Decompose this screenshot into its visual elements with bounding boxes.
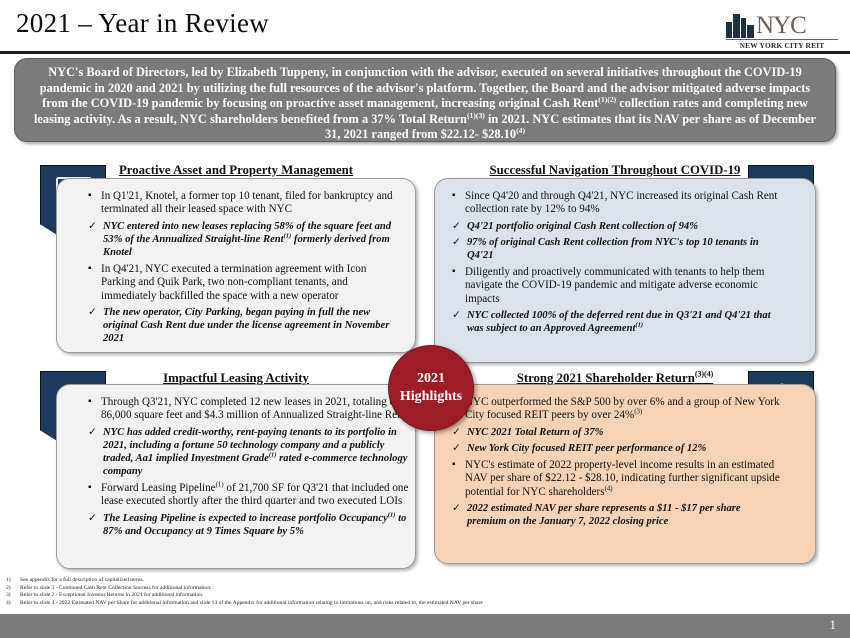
bullets-impactful-leasing-activity: Through Q3'21, NYC completed 12 new leas… [88,396,410,542]
logo-wordmark: NYC [756,14,806,38]
sub-bullet-item: Q4'21 portfolio original Cash Rent colle… [452,220,782,233]
sub-bullet-item: NYC collected 100% of the deferred rent … [452,309,782,335]
bullet-item: NYC's estimate of 2022 property-level in… [452,459,782,499]
page-number: 1 [830,617,837,633]
center-highlights-badge: 2021 Highlights [388,345,474,431]
sub-bullet-item: The new operator, City Parking, began pa… [88,306,400,345]
badge-year: 2021 [417,370,445,388]
bullets-successful-navigation-throughout-covid-19: Since Q4'20 and through Q4'21, NYC incre… [452,190,782,339]
heading-strong-2021-shareholder-return: Strong 2021 Shareholder Return(3)(4) [434,371,796,386]
heading-successful-navigation-throughout-covid-19: Successful Navigation Throughout COVID-1… [434,163,796,178]
logo-subtitle: NEW YORK CITY REIT [726,39,838,50]
footer-bar [0,614,850,638]
nyc-skyline-icon [726,10,754,38]
footnote-row: 4)Refer to slide 4 - 2022 Estimated NAV … [6,600,706,608]
footnote-number: 3) [6,592,15,600]
nyc-reit-logo: NYC NEW YORK CITY REIT [726,10,838,52]
sub-bullet-item: 97% of original Cash Rent collection fro… [452,236,782,262]
bullet-item: Diligently and proactively communicated … [452,266,782,306]
sub-bullet-item: NYC entered into new leases replacing 58… [88,220,400,259]
sub-bullet-item: 2022 estimated NAV per share represents … [452,502,782,528]
bullets-strong-2021-shareholder-return: NYC outperformed the S&P 500 by over 6% … [452,396,782,532]
heading-proactive-asset-and-property-management: Proactive Asset and Property Management [56,163,416,178]
bullet-item: In Q4'21, NYC executed a termination agr… [88,263,400,303]
footnote-number: 1) [6,577,15,585]
page-title: 2021 – Year in Review [16,8,269,39]
footnote-row: 3)Refer to slide 2 - Exceptional Investo… [6,592,706,600]
footnote-text: Refer to slide 4 - 2022 Estimated NAV pe… [20,600,483,608]
footnote-row: 1)See appendix for a full description of… [6,577,706,585]
bullet-item: In Q1'21, Knotel, a former top 10 tenant… [88,190,400,217]
badge-label: Highlights [400,388,462,406]
bullets-proactive-asset-and-property-management: In Q1'21, Knotel, a former top 10 tenant… [88,190,400,349]
sub-bullet-item: NYC has added credit-worthy, rent-paying… [88,426,410,478]
heading-impactful-leasing-activity: Impactful Leasing Activity [56,371,416,386]
bullet-item: Through Q3'21, NYC completed 12 new leas… [88,396,410,423]
header-divider [0,51,850,54]
footnote-text: See appendix for a full description of c… [20,577,144,585]
bullet-item: Since Q4'20 and through Q4'21, NYC incre… [452,190,782,217]
sub-bullet-item: The Leasing Pipeline is expected to incr… [88,512,410,538]
sub-bullet-item: NYC 2021 Total Return of 37% [452,426,782,439]
bullet-item: NYC outperformed the S&P 500 by over 6% … [452,396,782,423]
sub-bullet-item: New York City focused REIT peer performa… [452,442,782,455]
footnotes: 1)See appendix for a full description of… [6,577,706,607]
bullet-item: Forward Leasing Pipeline(1) of 21,700 SF… [88,482,410,509]
summary-banner: NYC's Board of Directors, led by Elizabe… [14,58,836,142]
footnote-number: 4) [6,600,15,608]
summary-banner-text: NYC's Board of Directors, led by Elizabe… [27,65,823,143]
footnote-text: Refer to slide 2 - Exceptional Investor … [20,592,203,600]
